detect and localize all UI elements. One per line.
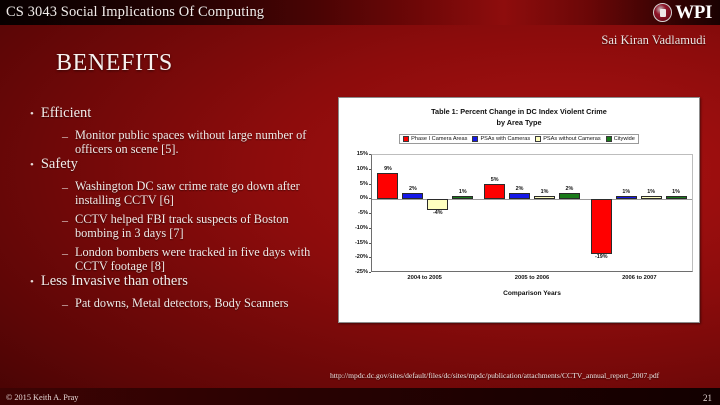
bar-value-label: 1% <box>639 189 663 195</box>
bullet-list: • Efficient – Monitor public spaces with… <box>30 105 330 312</box>
bullet-level2-text: CCTV helped FBI track suspects of Boston… <box>75 213 330 240</box>
bullet-dot-icon: • <box>30 273 34 291</box>
bullet-level2: – CCTV helped FBI track suspects of Bost… <box>62 213 330 240</box>
y-tick-label: 15% <box>357 151 368 157</box>
y-tick-label: -20% <box>355 254 368 260</box>
bar-slot: -19% <box>589 155 613 271</box>
bullet-level2: – Monitor public spaces without large nu… <box>62 129 330 156</box>
bar <box>666 196 687 199</box>
bullet-group-efficient: • Efficient – Monitor public spaces with… <box>30 105 330 156</box>
chart-title-line2: by Area Type <box>345 118 693 129</box>
bullet-level2-text: Monitor public spaces without large numb… <box>75 129 330 156</box>
bar-value-label: 2% <box>508 186 532 192</box>
copyright-text: © 2015 Keith A. Pray <box>6 393 78 402</box>
bar-value-label: 1% <box>614 189 638 195</box>
bar-value-label: 2% <box>401 186 425 192</box>
y-tick-label: 0% <box>360 195 368 201</box>
bar-slot: 5% <box>483 155 507 271</box>
slide-root: CS 3043 Social Implications Of Computing… <box>0 0 720 405</box>
bar-value-label: 1% <box>533 189 557 195</box>
legend-swatch-icon <box>403 136 409 142</box>
bullet-dash-icon: – <box>62 180 68 195</box>
chart-legend: Phase I Camera AreasPSAs with CamerasPSA… <box>399 134 639 144</box>
bullet-level2: – Pat downs, Metal detectors, Body Scann… <box>62 297 330 312</box>
bar <box>427 199 448 211</box>
bullet-level1-label: Safety <box>41 156 78 172</box>
bar-value-label: 1% <box>451 189 475 195</box>
legend-item-2: PSAs without Cameras <box>535 136 601 142</box>
x-tick-label: 2004 to 2005 <box>371 275 478 281</box>
bullet-dot-icon: • <box>30 156 34 174</box>
bar <box>484 184 505 199</box>
bar-slot: 2% <box>401 155 425 271</box>
bar <box>616 196 637 199</box>
legend-item-3: Citywide <box>606 136 635 142</box>
bar-group: 9%2%-4%1% <box>372 155 479 271</box>
y-tick-label: -25% <box>355 269 368 275</box>
bullet-level1: • Efficient <box>30 105 330 123</box>
wpi-logo: WPI <box>653 2 712 23</box>
bar-value-label: 9% <box>376 166 400 172</box>
bar <box>559 193 580 199</box>
wpi-seal-icon <box>653 3 672 22</box>
bar-value-label: -19% <box>589 254 613 260</box>
bar-slot: 9% <box>376 155 400 271</box>
bar-slot: 1% <box>639 155 663 271</box>
bar <box>509 193 530 199</box>
bar-slot: 1% <box>664 155 688 271</box>
chart-title: Table 1: Percent Change in DC Index Viol… <box>345 107 693 128</box>
chart-title-line1: Table 1: Percent Change in DC Index Viol… <box>345 107 693 118</box>
legend-item-0: Phase I Camera Areas <box>403 136 467 142</box>
course-title: CS 3043 Social Implications Of Computing <box>6 4 264 21</box>
bar <box>534 196 555 199</box>
bullet-dash-icon: – <box>62 213 68 228</box>
bullet-dash-icon: – <box>62 297 68 312</box>
bar-value-label: -4% <box>426 210 450 216</box>
slide-footer <box>0 388 720 405</box>
y-tick-label: -5% <box>358 210 368 216</box>
slide-header: CS 3043 Social Implications Of Computing… <box>0 0 720 25</box>
x-tick-label: 2005 to 2006 <box>478 275 585 281</box>
bar-value-label: 5% <box>483 177 507 183</box>
chart-plot: 9%2%-4%1%5%2%1%2%-19%1%1%1% <box>371 154 693 272</box>
bar-value-label: 2% <box>557 186 581 192</box>
bullet-group-safety: • Safety – Washington DC saw crime rate … <box>30 156 330 273</box>
bullet-level2-text: Pat downs, Metal detectors, Body Scanner… <box>75 297 288 311</box>
author-name: Sai Kiran Vadlamudi <box>601 33 706 48</box>
bullet-dot-icon: • <box>30 105 34 123</box>
legend-swatch-icon <box>472 136 478 142</box>
legend-swatch-icon <box>606 136 612 142</box>
wpi-logo-text: WPI <box>675 3 712 22</box>
chart-plot-area: 15%10%5%0%-5%-10%-15%-20%-25% 9%2%-4%1%5… <box>345 154 693 272</box>
legend-label: PSAs without Cameras <box>543 136 601 142</box>
bar <box>641 196 662 199</box>
bullet-level1: • Less Invasive than others <box>30 273 330 291</box>
bullet-dash-icon: – <box>62 246 68 261</box>
source-url[interactable]: http://mpdc.dc.gov/sites/default/files/d… <box>330 371 659 380</box>
bullet-level1-label: Efficient <box>41 105 91 121</box>
page-title: BENEFITS <box>56 50 173 77</box>
bar-slot: 1% <box>614 155 638 271</box>
bar <box>452 196 473 199</box>
bar <box>377 173 398 199</box>
y-tick-label: -10% <box>355 225 368 231</box>
bullet-level1-label: Less Invasive than others <box>41 273 188 289</box>
chart-y-axis: 15%10%5%0%-5%-10%-15%-20%-25% <box>345 154 371 272</box>
bar-value-label: 1% <box>664 189 688 195</box>
y-tick-label: 5% <box>360 181 368 187</box>
bullet-level2: – Washington DC saw crime rate go down a… <box>62 180 330 207</box>
bar-slot: 1% <box>533 155 557 271</box>
legend-label: PSAs with Cameras <box>480 136 530 142</box>
y-tick-label: 10% <box>357 166 368 172</box>
bar-slot: 2% <box>508 155 532 271</box>
legend-swatch-icon <box>535 136 541 142</box>
chart-image: Table 1: Percent Change in DC Index Viol… <box>338 97 700 323</box>
bullet-level1: • Safety <box>30 156 330 174</box>
bar-slot: 2% <box>557 155 581 271</box>
bar-slot: -4% <box>426 155 450 271</box>
bullet-level2-text: London bombers were tracked in five days… <box>75 246 330 273</box>
bullet-group-less-invasive: • Less Invasive than others – Pat downs,… <box>30 273 330 312</box>
bar-group: -19%1%1%1% <box>585 155 692 271</box>
x-tick-label: 2006 to 2007 <box>586 275 693 281</box>
page-number: 21 <box>703 393 712 403</box>
chart-x-axis-title: Comparison Years <box>371 290 693 297</box>
bar <box>591 199 612 254</box>
legend-item-1: PSAs with Cameras <box>472 136 530 142</box>
bullet-level2-text: Washington DC saw crime rate go down aft… <box>75 180 330 207</box>
y-tick-label: -15% <box>355 240 368 246</box>
bar-slot: 1% <box>451 155 475 271</box>
bullet-dash-icon: – <box>62 129 68 144</box>
bar <box>402 193 423 199</box>
legend-label: Citywide <box>614 136 635 142</box>
bar-group: 5%2%1%2% <box>479 155 586 271</box>
chart-x-tick-labels: 2004 to 20052005 to 20062006 to 2007 <box>371 275 693 281</box>
legend-label: Phase I Camera Areas <box>411 136 467 142</box>
bullet-level2: – London bombers were tracked in five da… <box>62 246 330 273</box>
